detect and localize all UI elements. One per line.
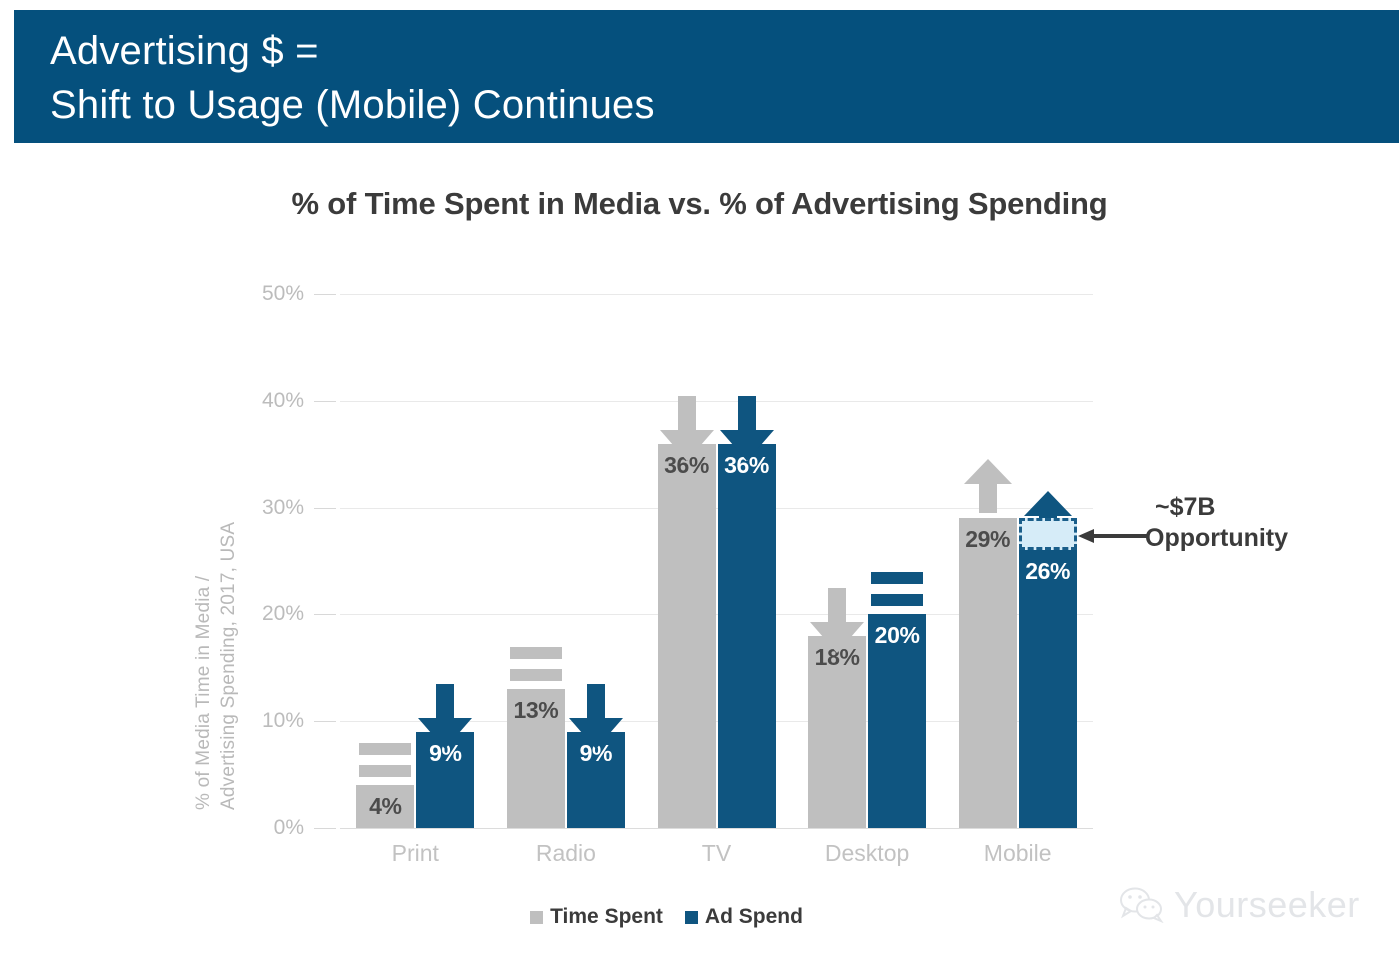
equals-icon [359,741,411,781]
bar-radio-time-spent: 13% [507,689,565,828]
bar-mobile-ad-spend: 26% [1019,550,1077,828]
bar-mobile-time-spent: 29% [959,518,1017,828]
bar-value-label: 26% [1019,558,1077,585]
y-axis-tick-mark [314,721,336,722]
bar-value-label: 20% [868,622,926,649]
y-axis-title-line2: Advertising Spending, 2017, USA [218,522,240,810]
up-arrow-icon [963,458,1013,514]
opportunity-callout: ~$7B Opportunity [1145,492,1385,554]
legend-swatch [685,911,698,924]
header-title-line1: Advertising $ = [50,24,1399,78]
x-axis-label-tv: TV [641,840,792,867]
gridline [340,828,1093,829]
y-axis-tick-label: 50% [234,282,304,306]
y-axis-tick-mark [314,508,336,509]
watermark-text: Yourseeker [1174,884,1360,926]
legend-label: Time Spent [550,905,663,929]
equals-icon [510,645,562,685]
bar-value-label: 4% [356,793,414,820]
opportunity-leader-arrow [1078,528,1148,544]
bar-desktop-time-spent: 18% [808,636,866,828]
watermark: Yourseeker [1120,884,1360,926]
bar-tv-time-spent: 36% [658,444,716,828]
legend-entry: Time Spent [530,905,663,929]
opportunity-amount: ~$7B [1145,492,1385,523]
gridline [340,401,1093,402]
bar-desktop-ad-spend: 20% [868,614,926,828]
down-arrow-icon [719,396,775,462]
bar-tv-ad-spend: 36% [718,444,776,828]
opportunity-label: Opportunity [1145,524,1288,552]
chart-plot-area: 0%10%20%30%40%50%4%9%Print13%9%Radio36%3… [340,294,1093,828]
y-axis-tick-mark [314,828,336,829]
y-axis-tick-mark [314,614,336,615]
gridline [340,294,1093,295]
legend-label: Ad Spend [705,905,803,929]
opportunity-gap-box [1019,518,1077,550]
y-axis-tick-label: 0% [234,816,304,840]
y-axis-tick-label: 30% [234,496,304,520]
chart-title: % of Time Spent in Media vs. % of Advert… [0,186,1399,222]
header-title-line2: Shift to Usage (Mobile) Continues [50,78,1399,132]
x-axis-label-radio: Radio [491,840,642,867]
legend-swatch [530,911,543,924]
x-axis-label-desktop: Desktop [792,840,943,867]
header-banner: Advertising $ = Shift to Usage (Mobile) … [14,10,1399,143]
wechat-icon [1120,887,1164,923]
equals-icon [871,570,923,610]
x-axis-label-mobile: Mobile [942,840,1093,867]
down-arrow-icon [417,684,473,750]
bar-value-label: 13% [507,697,565,724]
y-axis-tick-label: 40% [234,389,304,413]
y-axis-tick-label: 10% [234,709,304,733]
legend-entry: Ad Spend [685,905,803,929]
down-arrow-icon [659,396,715,462]
y-axis-tick-label: 20% [234,602,304,626]
y-axis-tick-mark [314,294,336,295]
y-axis-title-line1: % of Media Time in Media / [193,576,215,810]
down-arrow-icon [568,684,624,750]
down-arrow-icon [809,588,865,654]
x-axis-label-print: Print [340,840,491,867]
y-axis-tick-mark [314,401,336,402]
bar-value-label: 29% [959,526,1017,553]
bar-print-time-spent: 4% [356,785,414,828]
